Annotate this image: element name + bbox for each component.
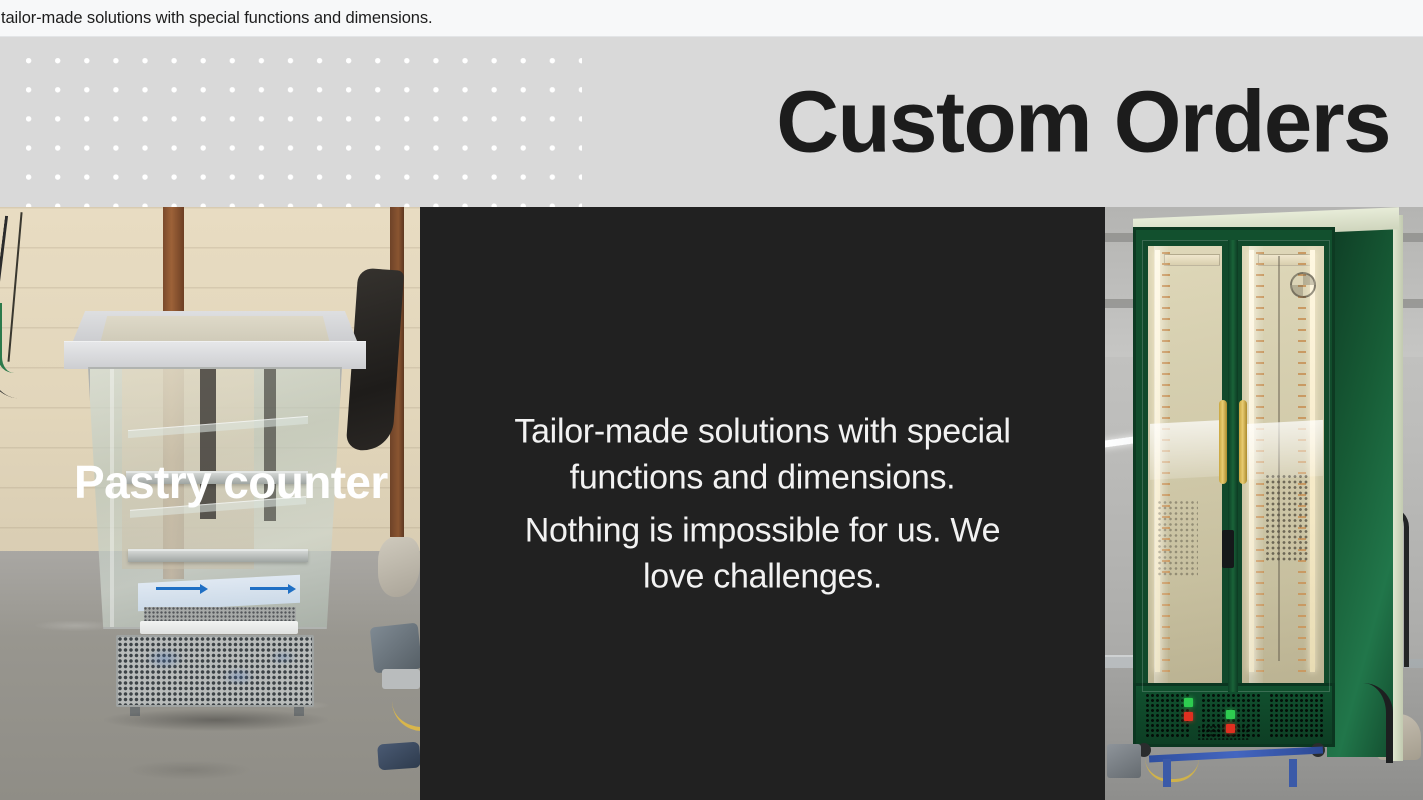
transport-stand bbox=[1139, 747, 1329, 787]
door-handle-right[interactable] bbox=[1239, 400, 1247, 484]
floor-equipment-box bbox=[1107, 744, 1141, 778]
cabinet-top-band bbox=[64, 341, 366, 369]
wine-cooler-cabinet bbox=[1133, 213, 1399, 779]
status-led-red-2 bbox=[1226, 724, 1235, 733]
protective-film-arrow-icon-2 bbox=[250, 587, 290, 590]
cabinet-door-frame bbox=[1133, 227, 1335, 747]
content-row: Pastry counter Tailor-made solutions wit… bbox=[0, 207, 1423, 800]
center-paragraph-2: Nothing is impossible for us. We love ch… bbox=[505, 507, 1021, 599]
glass-glare-left bbox=[1154, 246, 1168, 686]
glass-glare-right bbox=[1249, 246, 1263, 686]
dot-pattern-decoration bbox=[26, 37, 582, 207]
workshop-equipment bbox=[370, 623, 420, 674]
top-caption-text: tailor-made solutions with special funct… bbox=[1, 8, 432, 28]
status-led-green-1 bbox=[1184, 698, 1193, 707]
door-handle-left[interactable] bbox=[1219, 400, 1227, 484]
slide-page: tailor-made solutions with special funct… bbox=[0, 0, 1423, 800]
compartment-grille-3 bbox=[1270, 694, 1324, 738]
cabinet-brand-bar bbox=[140, 621, 298, 634]
page-title: Custom Orders bbox=[776, 79, 1390, 166]
control-panel[interactable] bbox=[1222, 530, 1234, 568]
status-led-green-2 bbox=[1226, 710, 1235, 719]
center-paragraph-1: Tailor-made solutions with special funct… bbox=[505, 408, 1021, 500]
door-mullion bbox=[1228, 240, 1238, 692]
green-cable bbox=[0, 303, 14, 373]
left-photo-caption: Pastry counter bbox=[74, 459, 388, 505]
wine-cooler-photo bbox=[1105, 207, 1423, 800]
cabinet-glass-door-left bbox=[1142, 240, 1228, 692]
top-caption-bar: tailor-made solutions with special funct… bbox=[0, 0, 1423, 37]
center-text-pane: Tailor-made solutions with special funct… bbox=[420, 207, 1105, 800]
interior-fan-icon bbox=[1290, 272, 1316, 298]
center-copy-block: Tailor-made solutions with special funct… bbox=[505, 408, 1021, 599]
pastry-display-cabinet bbox=[60, 311, 370, 763]
right-photo-pane[interactable]: Wine cooler bbox=[1105, 207, 1423, 800]
cabinet-shelf-lower bbox=[128, 549, 308, 562]
interior-vent-left bbox=[1164, 254, 1220, 266]
left-photo-pane[interactable]: Pastry counter bbox=[0, 207, 420, 800]
compartment-perforation bbox=[1198, 726, 1250, 740]
blue-bag bbox=[377, 742, 420, 771]
cabinet-perforated-plinth bbox=[116, 635, 314, 707]
interior-perforation-right bbox=[1266, 475, 1310, 561]
cabinet-side-panel bbox=[1327, 217, 1399, 757]
protective-film-arrow-icon bbox=[156, 587, 202, 590]
workshop-equipment-secondary bbox=[382, 669, 420, 689]
cabinet-floor-shadow bbox=[104, 709, 328, 731]
cabinet-side-edge bbox=[1393, 215, 1403, 761]
cabinet-glass-door-right bbox=[1236, 240, 1330, 692]
machine-compartment bbox=[1133, 683, 1335, 747]
header-band: Custom Orders bbox=[0, 37, 1423, 207]
status-led-red-1 bbox=[1184, 712, 1193, 721]
